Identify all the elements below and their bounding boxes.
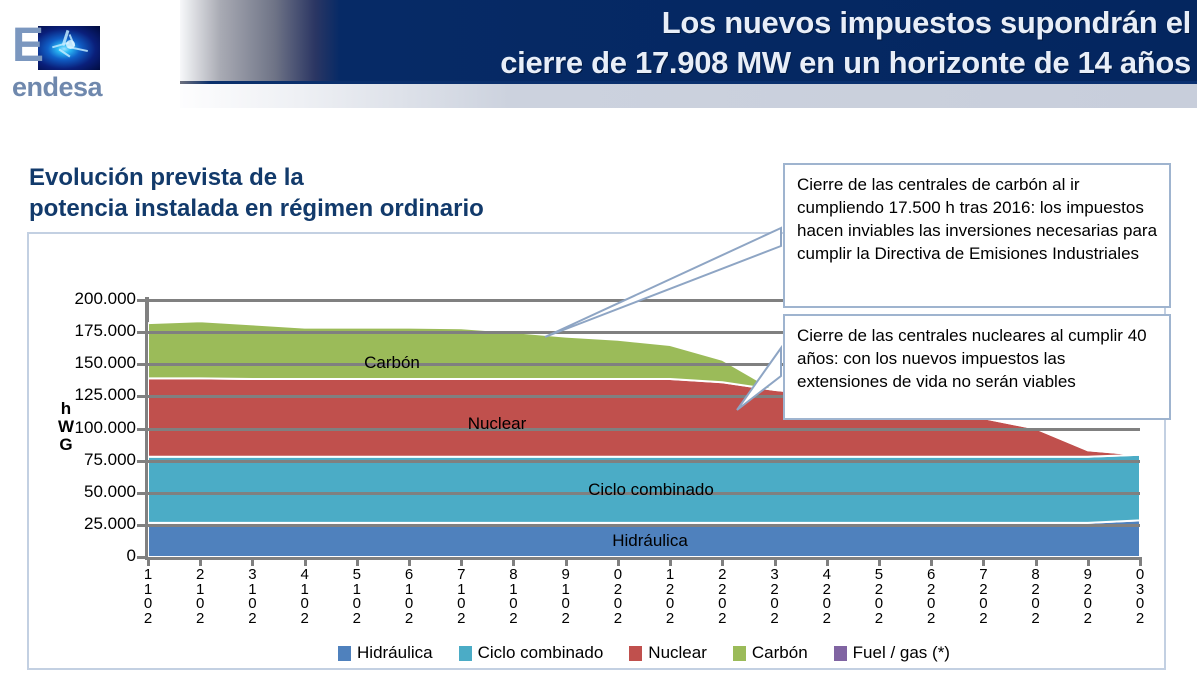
area-label-nuclear: Nuclear: [468, 414, 527, 434]
x-axis-tick-label: 6202: [924, 568, 938, 626]
y-axis-tick: [137, 556, 146, 559]
legend-item[interactable]: Ciclo combinado: [459, 643, 604, 663]
y-axis-tick: [137, 428, 146, 431]
x-axis-tick: [721, 557, 724, 566]
x-axis-tick-label: 0202: [611, 568, 625, 626]
x-axis-tick-label: 0302: [1133, 568, 1147, 626]
x-axis-tick-label: 3102: [245, 568, 259, 626]
y-axis-tick-label: 200.000: [40, 289, 136, 309]
legend-swatch-icon: [459, 646, 472, 661]
x-axis-tick: [356, 557, 359, 566]
y-axis-tick: [137, 331, 146, 334]
legend-swatch-icon: [834, 646, 847, 661]
page-title-line-1: Los nuevos impuestos supondrán el: [662, 5, 1191, 40]
x-axis-line: [145, 557, 1142, 560]
x-axis-tick: [304, 557, 307, 566]
area-label-carb-n: Carbón: [364, 353, 420, 373]
y-axis-tick-label: 150.000: [40, 353, 136, 373]
y-axis-tick-label: 175.000: [40, 321, 136, 341]
x-axis-tick-label: 7102: [454, 568, 468, 626]
x-axis-tick-label: 8102: [506, 568, 520, 626]
x-axis-tick-label: 8202: [1029, 568, 1043, 626]
y-axis-tick: [137, 524, 146, 527]
y-axis-tick-label: 100.000: [40, 418, 136, 438]
x-axis-tick-label: 1102: [141, 568, 155, 626]
x-axis-tick: [408, 557, 411, 566]
legend-label: Hidráulica: [357, 643, 433, 663]
x-axis-tick: [512, 557, 515, 566]
x-axis-tick: [460, 557, 463, 566]
header-sub-strip: [180, 84, 1197, 108]
x-axis-tick-label: 1202: [663, 568, 677, 626]
x-axis-tick: [147, 557, 150, 566]
legend-label: Carbón: [752, 643, 808, 663]
legend-label: Fuel / gas (*): [853, 643, 950, 663]
x-axis-tick: [199, 557, 202, 566]
y-axis-tick: [137, 395, 146, 398]
gridline: [148, 460, 1140, 463]
x-axis-tick: [982, 557, 985, 566]
x-axis-tick-label: 5202: [872, 568, 886, 626]
x-axis-tick-label: 2102: [193, 568, 207, 626]
y-axis-tick-label: 75.000: [40, 450, 136, 470]
legend-swatch-icon: [733, 646, 746, 661]
gridline: [148, 524, 1140, 527]
y-axis-tick-label: 50.000: [40, 482, 136, 502]
x-axis-tick: [1035, 557, 1038, 566]
page-title-line-2: cierre de 17.908 MW en un horizonte de 1…: [191, 43, 1191, 83]
y-axis-tick-label: 125.000: [40, 385, 136, 405]
x-axis-tick: [617, 557, 620, 566]
x-axis-tick-label: 6102: [402, 568, 416, 626]
legend-label: Nuclear: [648, 643, 707, 663]
gridline: [148, 428, 1140, 431]
area-label-hidr-ulica: Hidráulica: [612, 531, 688, 551]
x-axis-tick-label: 7202: [976, 568, 990, 626]
y-axis-tick: [137, 460, 146, 463]
legend-swatch-icon: [338, 646, 351, 661]
carbon-callout: Cierre de las centrales de carbón al ir …: [783, 163, 1171, 308]
y-axis-tick-label: 0: [40, 546, 136, 566]
chart-legend: HidráulicaCiclo combinadoNuclearCarbónFu…: [148, 641, 1140, 665]
x-axis-tick-label: 9202: [1081, 568, 1095, 626]
y-axis-tick: [137, 492, 146, 495]
x-axis-tick-label: 3202: [768, 568, 782, 626]
y-axis-tick-labels: 200.000175.000150.000125.000100.00075.00…: [36, 0, 136, 676]
area-label-ciclo-combinado: Ciclo combinado: [588, 480, 714, 500]
y-axis-tick: [137, 299, 146, 302]
x-axis-tick-label: 2202: [715, 568, 729, 626]
x-axis-tick: [878, 557, 881, 566]
legend-item[interactable]: Carbón: [733, 643, 808, 663]
legend-item[interactable]: Fuel / gas (*): [834, 643, 950, 663]
legend-item[interactable]: Nuclear: [629, 643, 707, 663]
nuclear-callout: Cierre de las centrales nucleares al cum…: [783, 314, 1171, 420]
legend-item[interactable]: Hidráulica: [338, 643, 433, 663]
x-axis-tick: [774, 557, 777, 566]
legend-swatch-icon: [629, 646, 642, 661]
x-axis-tick: [565, 557, 568, 566]
y-axis-title: h W G: [56, 400, 76, 454]
x-axis-tick: [1087, 557, 1090, 566]
x-axis-tick: [930, 557, 933, 566]
y-axis-title-char-w: W: [56, 418, 76, 436]
x-axis-tick-label: 5102: [350, 568, 364, 626]
page-title: Los nuevos impuestos supondrán el cierre…: [191, 3, 1191, 83]
x-axis-tick-label: 4202: [820, 568, 834, 626]
x-axis-tick-label: 4102: [298, 568, 312, 626]
x-axis-tick: [251, 557, 254, 566]
legend-label: Ciclo combinado: [478, 643, 604, 663]
x-axis-tick: [1139, 557, 1142, 566]
y-axis-tick: [137, 363, 146, 366]
y-axis-title-char-h: h: [56, 400, 76, 418]
x-axis-tick: [669, 557, 672, 566]
x-axis-tick-label: 9102: [559, 568, 573, 626]
y-axis-title-char-g: G: [56, 436, 76, 454]
y-axis-tick-label: 25.000: [40, 514, 136, 534]
x-axis-tick: [826, 557, 829, 566]
